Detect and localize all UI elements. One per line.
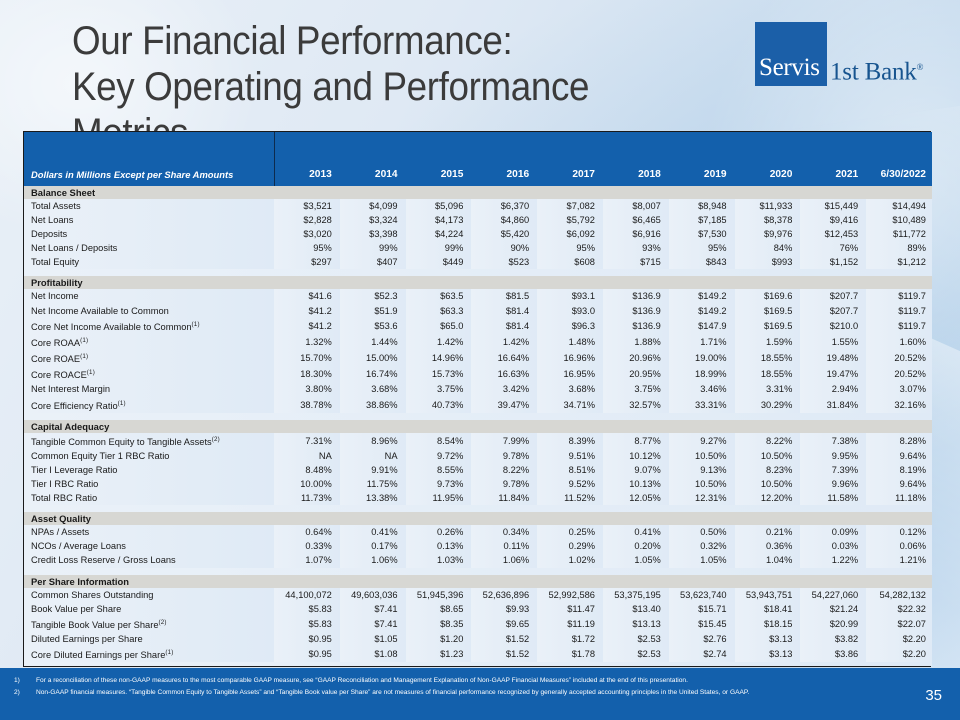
table-cell: 9.96%: [800, 477, 866, 491]
table-cell: 19.48%: [800, 350, 866, 366]
row-spacer: [24, 568, 932, 575]
row-label-text: Tangible Book Value per Share: [31, 620, 159, 630]
logo-bank-word: 1st Bank: [830, 58, 917, 85]
row-spacer: [24, 413, 932, 420]
table-cell: $9,976: [735, 227, 801, 241]
table-cell: 10.12%: [603, 449, 669, 463]
table-cell: 49,603,036: [340, 588, 406, 602]
table-cell: 8.28%: [866, 433, 932, 449]
table-cell: 1.05%: [603, 553, 669, 567]
table-cell: 1.06%: [471, 553, 537, 567]
table-cell: 40.73%: [406, 397, 472, 413]
table-cell: $149.2: [669, 304, 735, 318]
row-label-text: Total Equity: [31, 257, 79, 267]
spacer-cell: [24, 269, 932, 276]
table-cell: 11.75%: [340, 477, 406, 491]
row-label: Net Interest Margin: [24, 382, 274, 396]
table-cell: $81.4: [471, 318, 537, 334]
table-cell: 19.00%: [669, 350, 735, 366]
page-number: 35: [925, 687, 942, 704]
table-cell: $2.74: [669, 646, 735, 662]
row-label: Net Income: [24, 289, 274, 303]
table-cell: 39.47%: [471, 397, 537, 413]
footnote-marker: (2): [159, 619, 167, 626]
footnote-marker: (2): [212, 436, 220, 443]
row-label: Credit Loss Reserve / Gross Loans: [24, 553, 274, 567]
table-cell: $15,449: [800, 199, 866, 213]
table-cell: 20.52%: [866, 350, 932, 366]
table-cell: 9.52%: [537, 477, 603, 491]
table-cell: 9.64%: [866, 477, 932, 491]
table-cell: $7,082: [537, 199, 603, 213]
table-cell: 10.00%: [274, 477, 340, 491]
registered-trademark-icon: ®: [917, 62, 924, 72]
footnote-1-marker: 1): [14, 676, 20, 686]
table-cell: $3.82: [800, 632, 866, 646]
table-cell: 1.07%: [274, 553, 340, 567]
table-cell: 3.31%: [735, 382, 801, 396]
footnote-2-marker: 2): [14, 688, 20, 698]
footnote-marker: (1): [80, 337, 88, 344]
table-row: Net Interest Margin3.80%3.68%3.75%3.42%3…: [24, 382, 932, 396]
table-cell: $3,521: [274, 199, 340, 213]
table-cell: 0.32%: [669, 539, 735, 553]
row-label-text: Total Assets: [31, 201, 81, 211]
table-cell: $993: [735, 255, 801, 269]
table-cell: $3,398: [340, 227, 406, 241]
table-cell: $9,416: [800, 213, 866, 227]
table-cell: $81.5: [471, 289, 537, 303]
table-cell: $65.0: [406, 318, 472, 334]
table-cell: 0.41%: [340, 525, 406, 539]
table-cell: $1.52: [471, 646, 537, 662]
table-cell: 18.55%: [735, 366, 801, 382]
table-cell: 8.77%: [603, 433, 669, 449]
section-header-row: Profitability: [24, 276, 932, 289]
table-cell: 8.23%: [735, 463, 801, 477]
section-header-fill: [274, 186, 932, 199]
table-row: Credit Loss Reserve / Gross Loans1.07%1.…: [24, 553, 932, 567]
table-cell: $5.83: [274, 616, 340, 632]
table-cell: $11.19: [537, 616, 603, 632]
row-label: Core ROAE(1): [24, 350, 274, 366]
table-cell: $10,489: [866, 213, 932, 227]
table-cell: $22.07: [866, 616, 932, 632]
table-cell: $12,453: [800, 227, 866, 241]
logo-bank-text: 1st Bank®: [830, 55, 923, 84]
row-label: Total RBC Ratio: [24, 491, 274, 505]
table-cell: $8,948: [669, 199, 735, 213]
table-cell: $3,020: [274, 227, 340, 241]
table-cell: 0.33%: [274, 539, 340, 553]
table-cell: 2.94%: [800, 382, 866, 396]
row-label: Core Diluted Earnings per Share(1): [24, 646, 274, 662]
table-cell: 1.04%: [735, 553, 801, 567]
table-cell: 1.21%: [866, 553, 932, 567]
column-header-2013: 2013: [274, 132, 340, 186]
table-row: Core ROAA(1)1.32%1.44%1.42%1.42%1.48%1.8…: [24, 334, 932, 350]
table-cell: $4,099: [340, 199, 406, 213]
table-cell: $11,772: [866, 227, 932, 241]
table-row: Net Loans$2,828$3,324$4,173$4,860$5,792$…: [24, 213, 932, 227]
table-cell: 8.51%: [537, 463, 603, 477]
table-cell: $1.08: [340, 646, 406, 662]
table-cell: $11.47: [537, 602, 603, 616]
row-label-text: Credit Loss Reserve / Gross Loans: [31, 555, 176, 565]
table-row: Tangible Common Equity to Tangible Asset…: [24, 433, 932, 449]
row-label-text: Core ROAE: [31, 354, 80, 364]
table-cell: $2,828: [274, 213, 340, 227]
row-label-text: Tier I RBC Ratio: [31, 479, 98, 489]
table-cell: 11.84%: [471, 491, 537, 505]
section-header-fill: [274, 575, 932, 588]
table-cell: 3.42%: [471, 382, 537, 396]
section-title-profitability: Profitability: [24, 276, 274, 289]
section-header-row: Capital Adequacy: [24, 420, 932, 433]
table-cell: $18.41: [735, 602, 801, 616]
spacer-cell: [24, 413, 932, 420]
table-cell: $843: [669, 255, 735, 269]
table-cell: $149.2: [669, 289, 735, 303]
table-cell: $449: [406, 255, 472, 269]
table-cell: 3.80%: [274, 382, 340, 396]
table-cell: $1.23: [406, 646, 472, 662]
table-cell: 53,375,195: [603, 588, 669, 602]
table-cell: $1,152: [800, 255, 866, 269]
table-cell: 13.38%: [340, 491, 406, 505]
row-label-text: Book Value per Share: [31, 604, 121, 614]
table-cell: $3,324: [340, 213, 406, 227]
row-label: Tangible Book Value per Share(2): [24, 616, 274, 632]
footnote-marker: (1): [80, 353, 88, 360]
table-cell: 31.84%: [800, 397, 866, 413]
table-cell: 0.17%: [340, 539, 406, 553]
table-cell: $8.35: [406, 616, 472, 632]
table-cell: $20.99: [800, 616, 866, 632]
table-cell: $18.15: [735, 616, 801, 632]
table-cell: 1.32%: [274, 334, 340, 350]
column-header-2017: 2017: [537, 132, 603, 186]
table-cell: 90%: [471, 241, 537, 255]
table-cell: $4,860: [471, 213, 537, 227]
table-cell: 1.22%: [800, 553, 866, 567]
table-cell: $0.95: [274, 632, 340, 646]
row-label-text: Net Loans: [31, 215, 73, 225]
footnote-2-text: Non-GAAP financial measures. “Tangible C…: [36, 688, 885, 698]
table-cell: 52,992,586: [537, 588, 603, 602]
table-cell: 0.09%: [800, 525, 866, 539]
table-cell: 0.26%: [406, 525, 472, 539]
table-cell: $136.9: [603, 289, 669, 303]
table-cell: 3.07%: [866, 382, 932, 396]
table-cell: NA: [274, 449, 340, 463]
row-label: Deposits: [24, 227, 274, 241]
table-cell: 54,282,132: [866, 588, 932, 602]
table-row: Core Net Income Available to Common(1)$4…: [24, 318, 932, 334]
row-label: Net Loans / Deposits: [24, 241, 274, 255]
column-header-2020: 2020: [735, 132, 801, 186]
table-cell: 95%: [537, 241, 603, 255]
table-cell: 3.68%: [537, 382, 603, 396]
row-label-text: Net Interest Margin: [31, 384, 110, 394]
table-cell: $119.7: [866, 289, 932, 303]
row-label-text: NCOs / Average Loans: [31, 541, 126, 551]
table-cell: NA: [340, 449, 406, 463]
table-cell: 8.22%: [735, 433, 801, 449]
table-cell: 1.05%: [669, 553, 735, 567]
row-label: Net Loans: [24, 213, 274, 227]
table-cell: 8.96%: [340, 433, 406, 449]
table-cell: 11.58%: [800, 491, 866, 505]
table-cell: 1.55%: [800, 334, 866, 350]
table-cell: $13.13: [603, 616, 669, 632]
table-cell: 18.30%: [274, 366, 340, 382]
row-label-text: Net Loans / Deposits: [31, 243, 117, 253]
row-label-text: Core Efficiency Ratio: [31, 401, 118, 411]
table-cell: 7.38%: [800, 433, 866, 449]
row-label-text: Core ROAA: [31, 338, 80, 348]
row-spacer: [24, 269, 932, 276]
table-cell: $93.0: [537, 304, 603, 318]
row-label-text: Core ROACE: [31, 370, 87, 380]
table-row: NCOs / Average Loans0.33%0.17%0.13%0.11%…: [24, 539, 932, 553]
financial-metrics-table: Dollars in Millions Except per Share Amo…: [24, 132, 932, 666]
table-cell: 9.13%: [669, 463, 735, 477]
table-cell: 11.95%: [406, 491, 472, 505]
table-cell: 76%: [800, 241, 866, 255]
table-cell: 9.64%: [866, 449, 932, 463]
table-cell: 84%: [735, 241, 801, 255]
slide-footer: 1) For a reconciliation of these non-GAA…: [0, 668, 960, 720]
row-label-text: Common Shares Outstanding: [31, 590, 153, 600]
table-cell: 9.91%: [340, 463, 406, 477]
row-label: Total Assets: [24, 199, 274, 213]
table-cell: 7.39%: [800, 463, 866, 477]
table-cell: $207.7: [800, 289, 866, 303]
row-label: Core Efficiency Ratio(1): [24, 397, 274, 413]
section-header-fill: [274, 420, 932, 433]
financial-metrics-table-container: Dollars in Millions Except per Share Amo…: [23, 131, 931, 667]
table-cell: $9.65: [471, 616, 537, 632]
table-cell: $15.45: [669, 616, 735, 632]
table-cell: 10.50%: [735, 449, 801, 463]
table-cell: 54,227,060: [800, 588, 866, 602]
row-label: Book Value per Share: [24, 602, 274, 616]
row-label-text: Common Equity Tier 1 RBC Ratio: [31, 451, 169, 461]
table-cell: 1.06%: [340, 553, 406, 567]
table-cell: 8.48%: [274, 463, 340, 477]
table-cell: $5,420: [471, 227, 537, 241]
table-cell: $2.20: [866, 632, 932, 646]
table-cell: 53,623,740: [669, 588, 735, 602]
table-cell: $2.76: [669, 632, 735, 646]
table-cell: 0.41%: [603, 525, 669, 539]
table-cell: $3.13: [735, 646, 801, 662]
table-cell: 51,945,396: [406, 588, 472, 602]
slide-title-line-1: Our Financial Performance:: [72, 19, 512, 63]
table-corner-label: Dollars in Millions Except per Share Amo…: [24, 132, 274, 186]
table-cell: 9.07%: [603, 463, 669, 477]
table-cell: $14,494: [866, 199, 932, 213]
table-cell: $6,092: [537, 227, 603, 241]
table-cell: 15.70%: [274, 350, 340, 366]
column-header-6-30-2022: 6/30/2022: [866, 132, 932, 186]
table-cell: 16.96%: [537, 350, 603, 366]
table-cell: 20.96%: [603, 350, 669, 366]
table-cell: 7.99%: [471, 433, 537, 449]
table-cell: $5,792: [537, 213, 603, 227]
table-cell: 9.51%: [537, 449, 603, 463]
table-cell: 32.16%: [866, 397, 932, 413]
table-cell: 9.78%: [471, 449, 537, 463]
table-cell: 1.48%: [537, 334, 603, 350]
table-cell: 1.03%: [406, 553, 472, 567]
section-title-per-share-information: Per Share Information: [24, 575, 274, 588]
table-header-row: Dollars in Millions Except per Share Amo…: [24, 132, 932, 186]
table-cell: 1.42%: [471, 334, 537, 350]
row-label: Core Net Income Available to Common(1): [24, 318, 274, 334]
table-row: Net Income Available to Common$41.2$51.9…: [24, 304, 932, 318]
table-cell: $4,224: [406, 227, 472, 241]
column-header-2016: 2016: [471, 132, 537, 186]
table-cell: $52.3: [340, 289, 406, 303]
table-cell: 0.03%: [800, 539, 866, 553]
table-cell: $3.13: [735, 632, 801, 646]
table-cell: $210.0: [800, 318, 866, 334]
table-cell: $169.5: [735, 318, 801, 334]
row-label: Core ROAA(1): [24, 334, 274, 350]
table-cell: 12.20%: [735, 491, 801, 505]
footnote-marker: (1): [118, 400, 126, 407]
table-cell: 0.12%: [866, 525, 932, 539]
table-row: Common Equity Tier 1 RBC RatioNANA9.72%9…: [24, 449, 932, 463]
table-cell: $207.7: [800, 304, 866, 318]
table-cell: 8.39%: [537, 433, 603, 449]
table-row: Total Assets$3,521$4,099$5,096$6,370$7,0…: [24, 199, 932, 213]
table-cell: 12.31%: [669, 491, 735, 505]
table-row: NPAs / Assets0.64%0.41%0.26%0.34%0.25%0.…: [24, 525, 932, 539]
table-cell: 0.21%: [735, 525, 801, 539]
section-title-capital-adequacy: Capital Adequacy: [24, 420, 274, 433]
table-row: Net Loans / Deposits95%99%99%90%95%93%95…: [24, 241, 932, 255]
table-cell: 11.73%: [274, 491, 340, 505]
table-cell: 10.50%: [669, 449, 735, 463]
table-cell: $7.41: [340, 616, 406, 632]
table-cell: $0.95: [274, 646, 340, 662]
column-header-2014: 2014: [340, 132, 406, 186]
table-cell: 10.50%: [669, 477, 735, 491]
table-cell: $41.6: [274, 289, 340, 303]
table-cell: $1.52: [471, 632, 537, 646]
table-cell: 95%: [274, 241, 340, 255]
spacer-cell: [24, 568, 932, 575]
table-cell: $1.20: [406, 632, 472, 646]
row-label-text: Core Diluted Earnings per Share: [31, 650, 165, 660]
row-label: NPAs / Assets: [24, 525, 274, 539]
table-cell: $4,173: [406, 213, 472, 227]
section-title-asset-quality: Asset Quality: [24, 512, 274, 525]
row-spacer: [24, 505, 932, 512]
table-cell: 33.31%: [669, 397, 735, 413]
row-label-text: Deposits: [31, 229, 67, 239]
table-cell: 8.55%: [406, 463, 472, 477]
table-cell: $608: [537, 255, 603, 269]
table-cell: 16.64%: [471, 350, 537, 366]
table-cell: $1.72: [537, 632, 603, 646]
section-header-row: Asset Quality: [24, 512, 932, 525]
table-cell: $22.32: [866, 602, 932, 616]
table-cell: 1.42%: [406, 334, 472, 350]
table-cell: 38.86%: [340, 397, 406, 413]
table-cell: 0.34%: [471, 525, 537, 539]
row-label: Common Shares Outstanding: [24, 588, 274, 602]
row-label: Tier I Leverage Ratio: [24, 463, 274, 477]
table-row: Deposits$3,020$3,398$4,224$5,420$6,092$6…: [24, 227, 932, 241]
table-cell: 8.54%: [406, 433, 472, 449]
table-cell: 19.47%: [800, 366, 866, 382]
table-cell: 16.63%: [471, 366, 537, 382]
row-label-text: Diluted Earnings per Share: [31, 634, 143, 644]
table-cell: 1.88%: [603, 334, 669, 350]
table-cell: $93.1: [537, 289, 603, 303]
table-cell: $9.93: [471, 602, 537, 616]
table-cell: 0.29%: [537, 539, 603, 553]
row-label-text: Tier I Leverage Ratio: [31, 465, 117, 475]
table-cell: 7.31%: [274, 433, 340, 449]
row-spacer: [24, 662, 932, 666]
table-cell: 18.99%: [669, 366, 735, 382]
table-cell: 0.36%: [735, 539, 801, 553]
table-row: Diluted Earnings per Share$0.95$1.05$1.2…: [24, 632, 932, 646]
table-cell: $63.3: [406, 304, 472, 318]
table-cell: 99%: [340, 241, 406, 255]
table-cell: $8.65: [406, 602, 472, 616]
footnote-2: 2) Non-GAAP financial measures. “Tangibl…: [0, 688, 960, 712]
table-row: Book Value per Share$5.83$7.41$8.65$9.93…: [24, 602, 932, 616]
table-cell: 16.74%: [340, 366, 406, 382]
row-label-text: Net Income: [31, 291, 79, 301]
table-cell: $3.86: [800, 646, 866, 662]
table-cell: 32.57%: [603, 397, 669, 413]
footnote-marker: (1): [192, 321, 200, 328]
table-cell: 93%: [603, 241, 669, 255]
row-label: Diluted Earnings per Share: [24, 632, 274, 646]
table-cell: 9.72%: [406, 449, 472, 463]
table-cell: 20.95%: [603, 366, 669, 382]
spacer-cell: [24, 662, 932, 666]
section-header-row: Per Share Information: [24, 575, 932, 588]
table-cell: 14.96%: [406, 350, 472, 366]
table-cell: $5.83: [274, 602, 340, 616]
table-cell: $147.9: [669, 318, 735, 334]
table-cell: $41.2: [274, 304, 340, 318]
table-cell: $297: [274, 255, 340, 269]
table-row: Core Diluted Earnings per Share(1)$0.95$…: [24, 646, 932, 662]
table-cell: $96.3: [537, 318, 603, 334]
table-cell: $7,185: [669, 213, 735, 227]
footnote-marker: (1): [87, 369, 95, 376]
column-header-2018: 2018: [603, 132, 669, 186]
table-cell: $21.24: [800, 602, 866, 616]
table-cell: 3.75%: [603, 382, 669, 396]
table-cell: 3.46%: [669, 382, 735, 396]
table-cell: 1.59%: [735, 334, 801, 350]
logo-servis-text: Servis: [759, 55, 829, 80]
row-label: Tier I RBC Ratio: [24, 477, 274, 491]
row-label: Total Equity: [24, 255, 274, 269]
table-cell: 9.95%: [800, 449, 866, 463]
table-cell: 99%: [406, 241, 472, 255]
